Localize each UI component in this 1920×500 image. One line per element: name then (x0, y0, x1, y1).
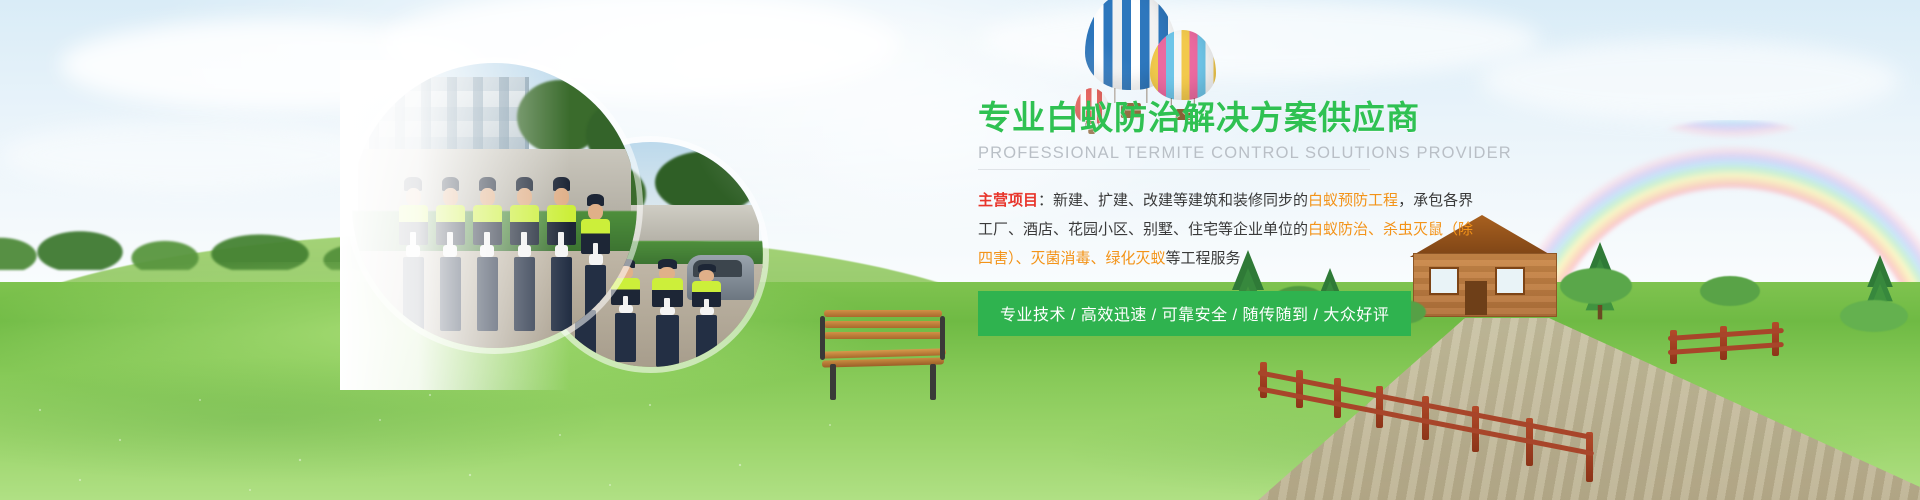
photo-collage (340, 60, 840, 390)
banner-headline: 专业白蚁防治解决方案供应商 (978, 100, 1498, 136)
paragraph-line1-highlight: 白蚁预防工程 (1308, 192, 1398, 209)
cloud-icon (1480, 40, 1900, 120)
promo-banner: 专业白蚁防治解决方案供应商 PROFESSIONAL TERMITE CONTR… (0, 0, 1920, 500)
banner-subtitle: PROFESSIONAL TERMITE CONTROL SOLUTIONS P… (978, 144, 1498, 163)
paragraph-line1-text: 新建、扩建、改建等建筑和装修同步的 (1053, 192, 1308, 209)
team-lineup-photo (352, 63, 637, 348)
banner-paragraph: 主营项目：新建、扩建、改建等建筑和装修同步的白蚁预防工程，承包各界工厂、酒店、花… (978, 186, 1478, 273)
cloud-icon (0, 120, 380, 190)
white-flowers (0, 380, 900, 500)
paragraph-line3-tail: 等工程服务 (1166, 250, 1241, 267)
paragraph-label: 主营项目 (978, 192, 1038, 209)
divider (978, 169, 1370, 170)
banner-copy: 专业白蚁防治解决方案供应商 PROFESSIONAL TERMITE CONTR… (978, 100, 1498, 336)
cloud-icon (980, 0, 1540, 80)
tagline-bar: 专业技术 / 高效迅速 / 可靠安全 / 随传随到 / 大众好评 (978, 291, 1411, 336)
bush-icon (1560, 268, 1632, 304)
paragraph-colon: ： (1038, 192, 1053, 209)
